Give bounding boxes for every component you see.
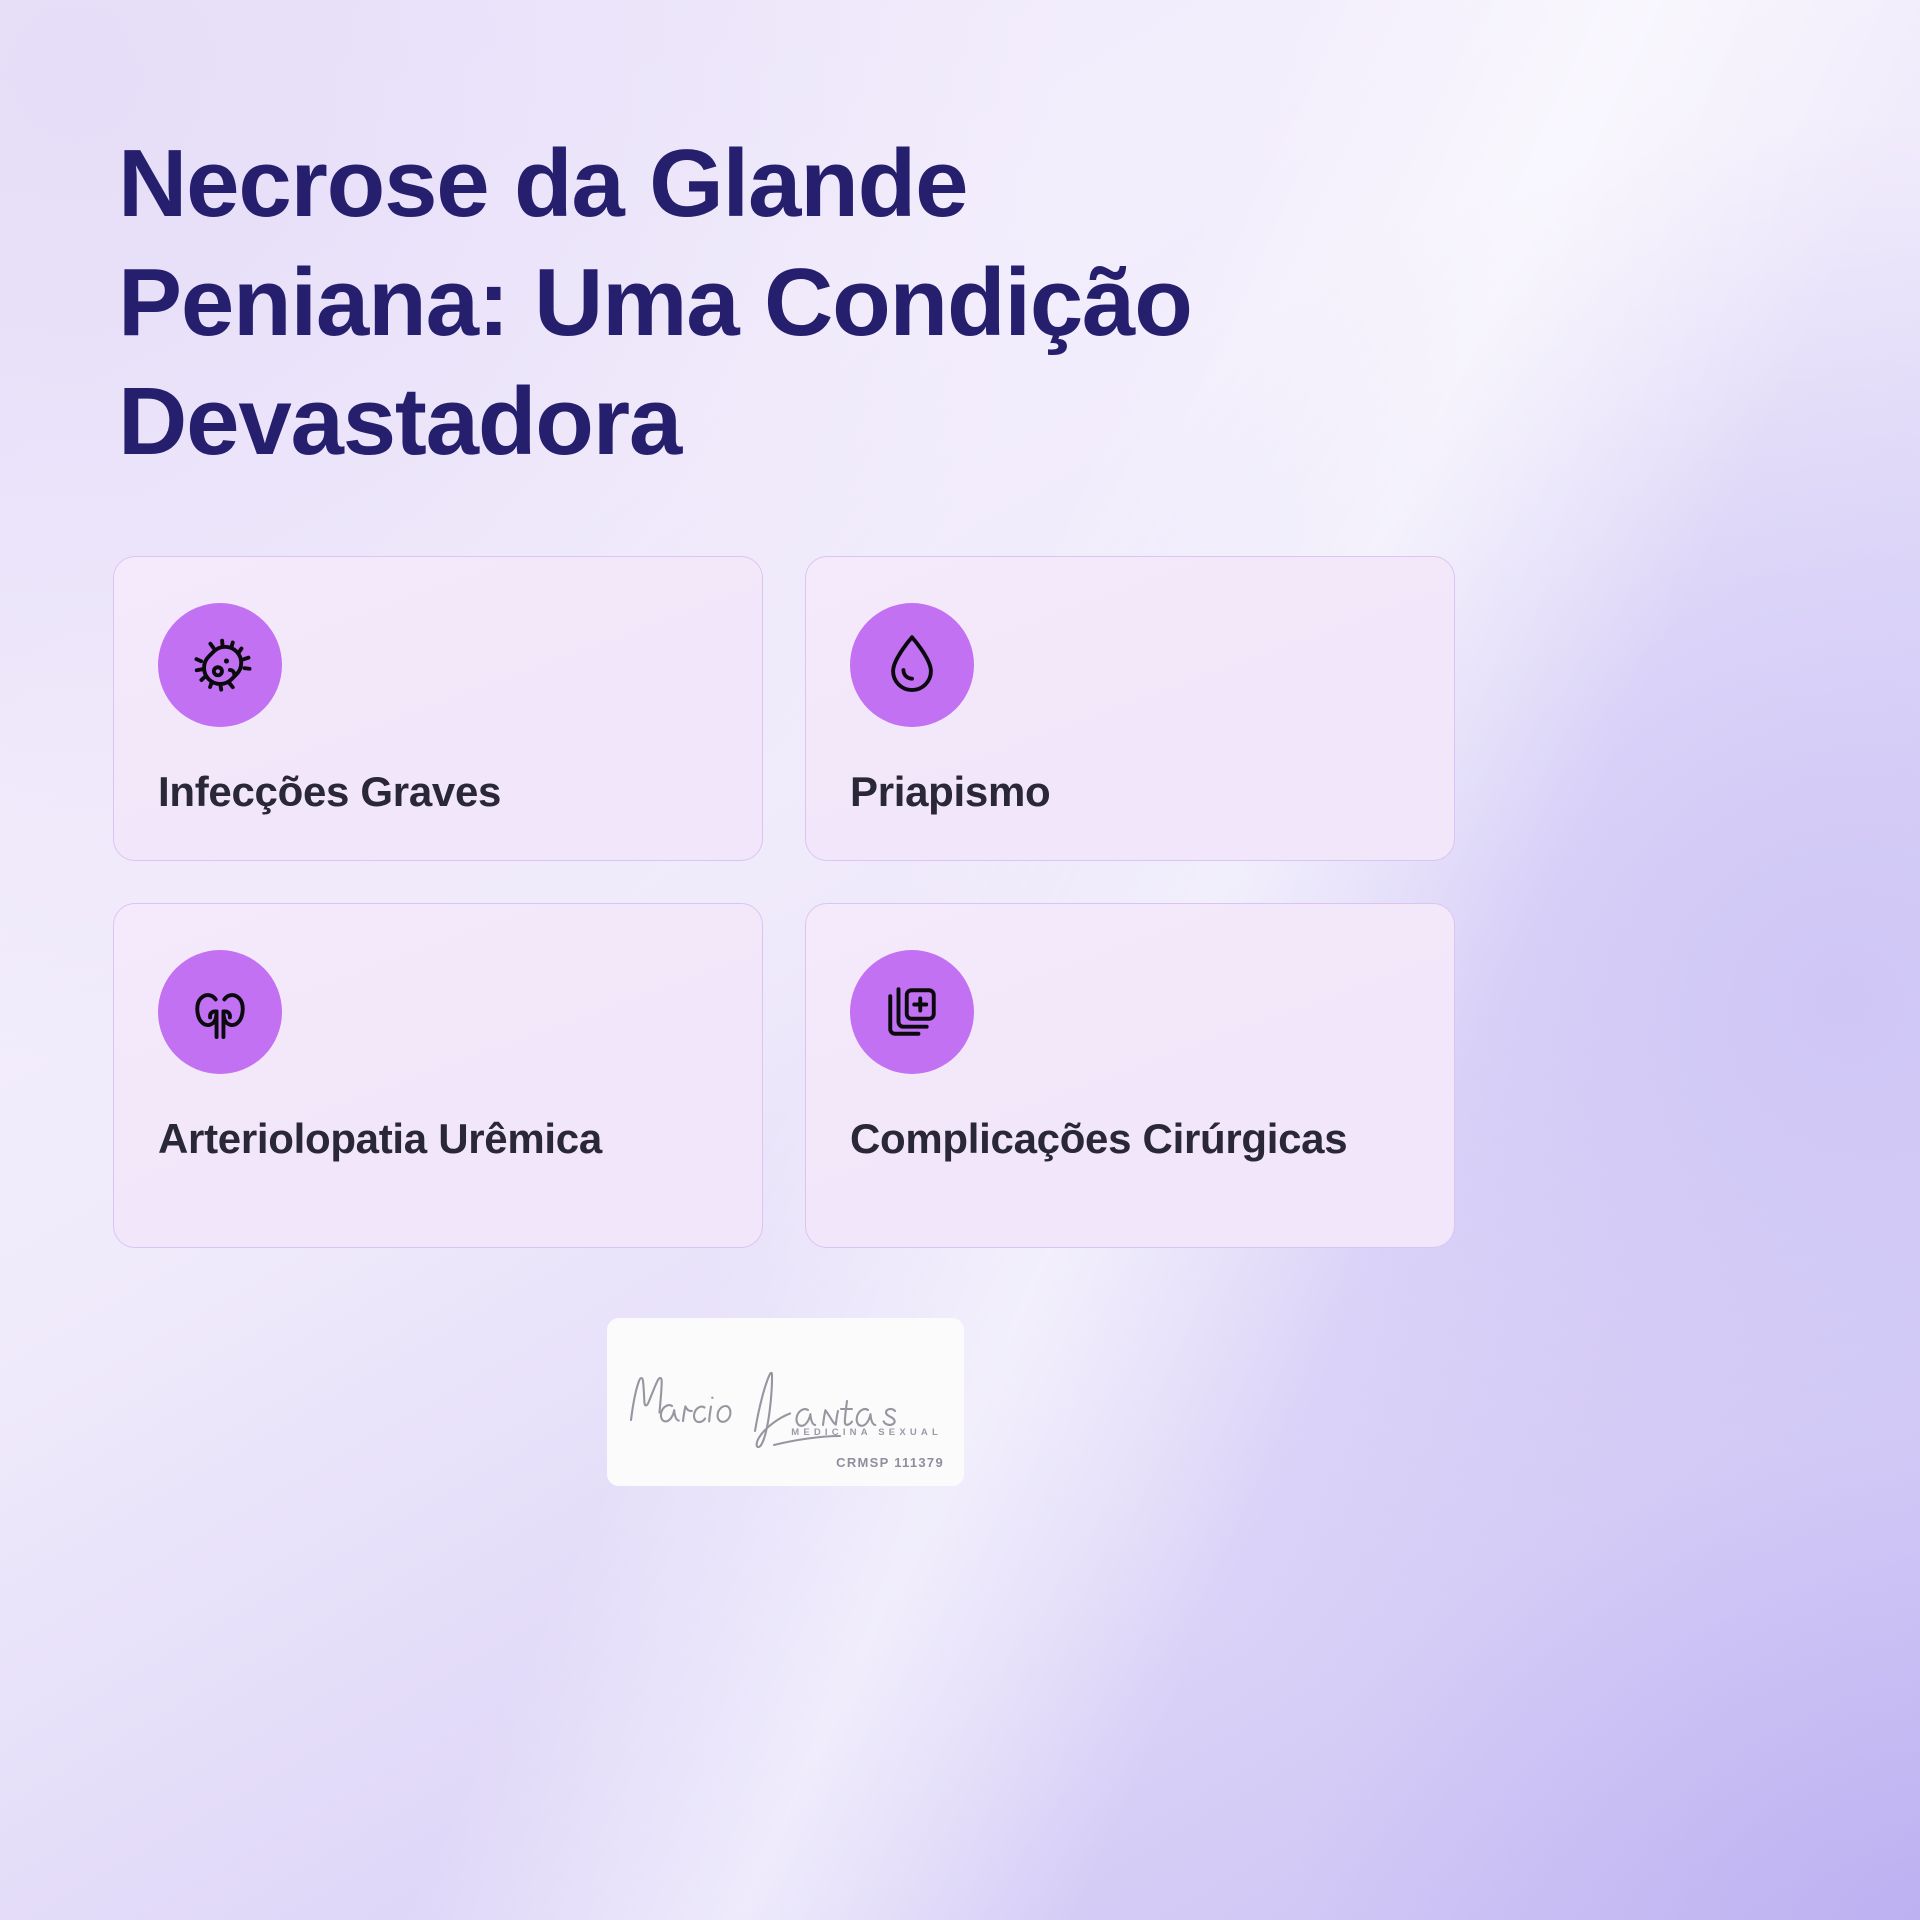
medical-record-plus-icon [876, 976, 948, 1048]
card-arteriolopatia-uremica[interactable]: Arteriolopatia Urêmica [113, 903, 763, 1248]
icon-badge [850, 950, 974, 1074]
kidneys-icon [184, 976, 256, 1048]
card-infeccoes-graves[interactable]: Infecções Graves [113, 556, 763, 861]
bacteria-icon [184, 629, 256, 701]
card-label: Complicações Cirúrgicas [850, 1112, 1414, 1167]
page-title: Necrose da Glande Peniana: Uma Condição … [118, 124, 1318, 481]
card-label: Infecções Graves [158, 765, 722, 820]
logo-tagline: MEDICINA SEXUAL [607, 1427, 942, 1438]
cards-grid: Infecções Graves Priapismo [113, 556, 1455, 1248]
card-priapismo[interactable]: Priapismo [805, 556, 1455, 861]
card-label: Arteriolopatia Urêmica [158, 1112, 722, 1167]
brand-logo: MEDICINA SEXUAL CRMSP 111379 [607, 1318, 964, 1486]
infographic-page: Necrose da Glande Peniana: Uma Condição … [0, 0, 1920, 1920]
blood-drop-icon [876, 629, 948, 701]
card-label: Priapismo [850, 765, 1414, 820]
card-complicacoes-cirurgicas[interactable]: Complicações Cirúrgicas [805, 903, 1455, 1248]
icon-badge [850, 603, 974, 727]
logo-registration: CRMSP 111379 [607, 1455, 944, 1470]
icon-badge [158, 603, 282, 727]
icon-badge [158, 950, 282, 1074]
